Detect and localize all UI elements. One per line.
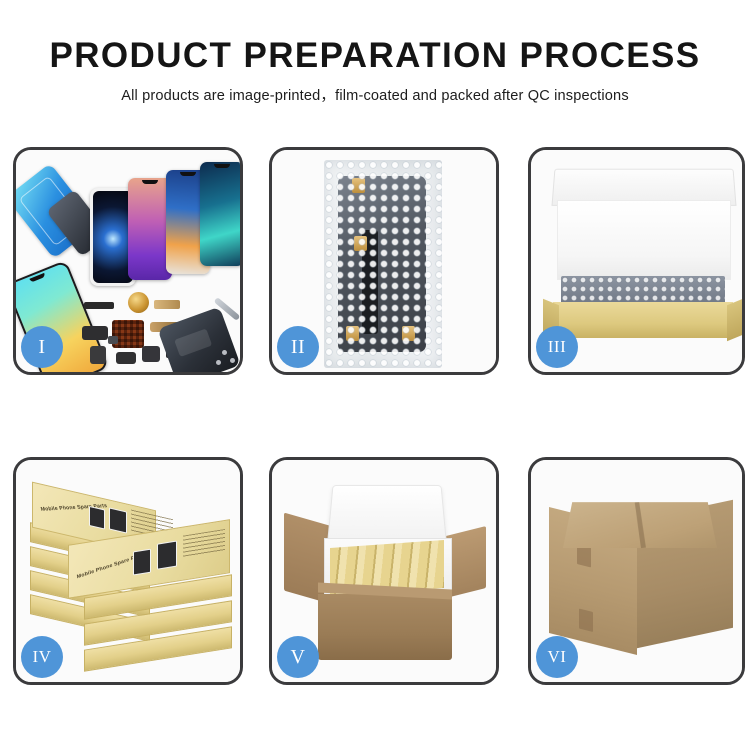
box-window-1 bbox=[89, 506, 105, 530]
carton-front-image bbox=[318, 594, 452, 660]
product-preparation-infographic: PRODUCT PREPARATION PROCESS All products… bbox=[0, 0, 750, 750]
disassembled-back-image bbox=[157, 307, 240, 372]
page-subtitle: All products are image-printed，film-coat… bbox=[0, 84, 750, 105]
step-badge-3: III bbox=[536, 326, 578, 368]
flex-cable-2-image bbox=[154, 300, 180, 309]
carton-seam bbox=[635, 502, 646, 548]
connector-2-image bbox=[90, 346, 106, 364]
step-badge-2: II bbox=[277, 326, 319, 368]
sim-tray-image bbox=[108, 336, 118, 344]
step-badge-1: I bbox=[21, 326, 63, 368]
teal-phone-image bbox=[200, 162, 240, 266]
step-panel-2: II bbox=[269, 147, 499, 375]
foam-lid-image bbox=[327, 485, 447, 542]
step-badge-5: V bbox=[277, 636, 319, 678]
step-panel-3: III bbox=[528, 147, 745, 375]
step-panel-1: I bbox=[13, 147, 243, 375]
connector-1-image bbox=[82, 326, 108, 340]
step-panel-4: Mobile Phone Spare Parts Mobile Phone Sp… bbox=[13, 457, 243, 685]
screw-3-image bbox=[216, 360, 221, 365]
step-badge-6: VI bbox=[536, 636, 578, 678]
steps-grid: I II bbox=[13, 147, 745, 687]
step-panel-5: V bbox=[269, 457, 499, 685]
carton-top-image bbox=[563, 502, 717, 548]
bubble-wrap-bag-image bbox=[324, 160, 442, 368]
flex-cable-1-image bbox=[84, 302, 114, 309]
step-panel-6: VI bbox=[528, 457, 745, 685]
box-spec-text-front bbox=[183, 529, 225, 558]
kraft-box-front-image bbox=[553, 302, 733, 338]
speaker-module-image bbox=[142, 346, 160, 362]
box-window-2 bbox=[109, 507, 127, 533]
header: PRODUCT PREPARATION PROCESS All products… bbox=[0, 38, 750, 105]
carton-tape-2 bbox=[579, 609, 593, 632]
connector-3-image bbox=[116, 352, 136, 364]
box-window-4 bbox=[157, 541, 177, 570]
vibration-motor-image bbox=[128, 292, 149, 313]
foam-sheet-image bbox=[557, 200, 731, 280]
bubble-texture bbox=[324, 160, 442, 368]
step-badge-4: IV bbox=[21, 636, 63, 678]
screw-2-image bbox=[230, 358, 235, 363]
page-title: PRODUCT PREPARATION PROCESS bbox=[0, 38, 750, 75]
screw-1-image bbox=[222, 350, 227, 355]
box-window-3 bbox=[133, 549, 151, 576]
